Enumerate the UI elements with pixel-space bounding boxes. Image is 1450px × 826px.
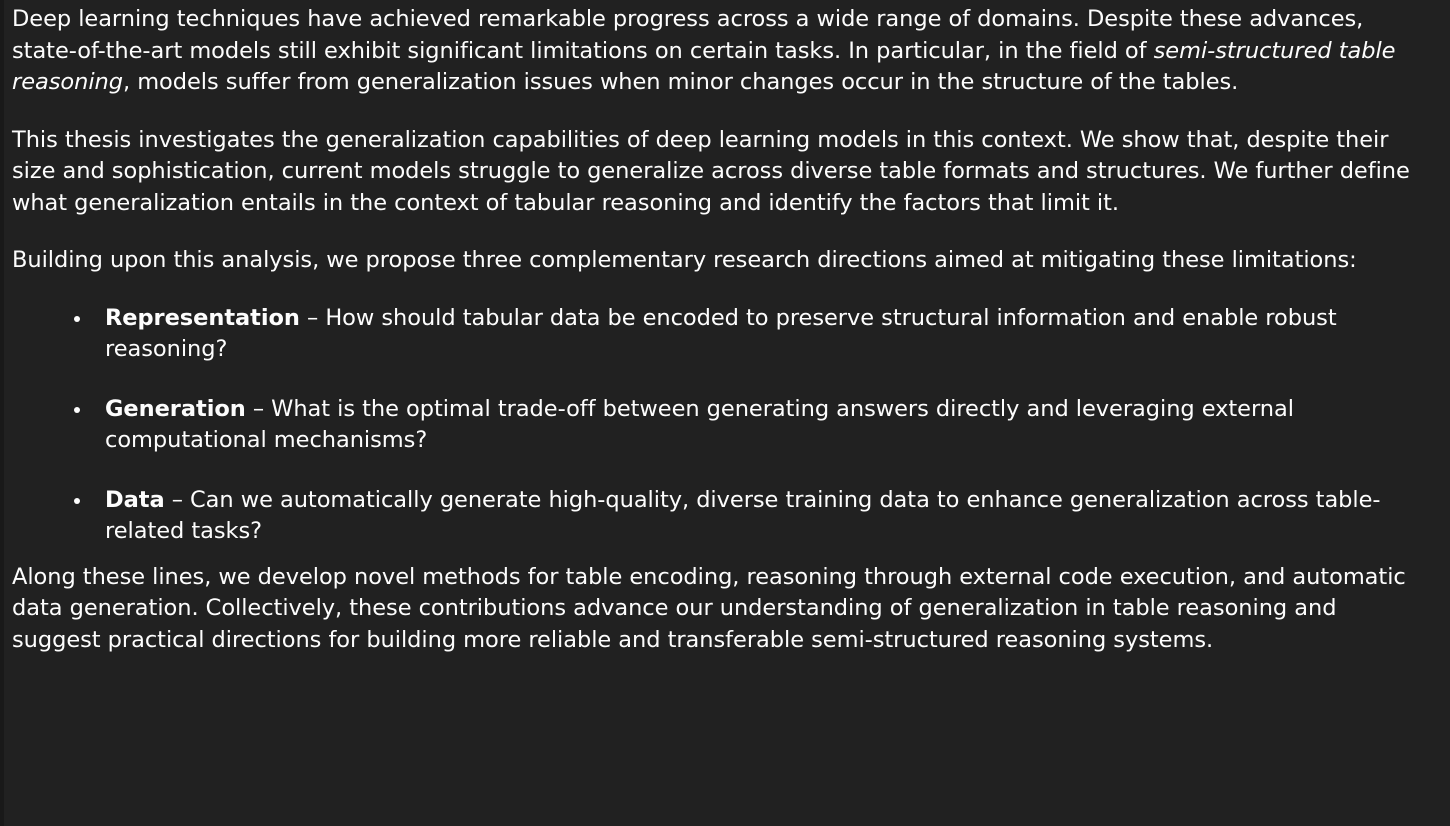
list-item-generation-text: What is the optimal trade-off between ge… (105, 396, 1294, 454)
bullet-dot-icon (74, 316, 80, 322)
list-item-data: Data – Can we automatically generate hig… (12, 485, 1428, 548)
paragraph-thesis-scope: This thesis investigates the generalizat… (12, 125, 1428, 220)
bullet-dot-icon (74, 407, 80, 413)
list-item-generation: Generation – What is the optimal trade-o… (12, 394, 1428, 457)
list-item-representation: Representation – How should tabular data… (12, 303, 1428, 366)
paragraph-intro-part-2: , models suffer from generalization issu… (123, 69, 1238, 95)
list-item-data-text: Can we automatically generate high-quali… (105, 487, 1380, 545)
abstract-page: Deep learning techniques have achieved r… (0, 0, 1450, 826)
research-directions-list: Representation – How should tabular data… (12, 303, 1428, 548)
list-item-representation-lead: Representation (105, 305, 300, 331)
list-item-data-separator: – (165, 487, 190, 513)
list-item-representation-separator: – (300, 305, 325, 331)
bullet-dot-icon (74, 498, 80, 504)
paragraph-research-directions-lead: Building upon this analysis, we propose … (12, 245, 1428, 277)
list-item-data-lead: Data (105, 487, 165, 513)
paragraph-contributions-text: Along these lines, we develop novel meth… (12, 564, 1406, 653)
paragraph-research-directions-lead-text: Building upon this analysis, we propose … (12, 247, 1357, 273)
list-item-generation-lead: Generation (105, 396, 246, 422)
list-item-generation-separator: – (246, 396, 271, 422)
paragraph-contributions: Along these lines, we develop novel meth… (12, 562, 1428, 657)
paragraph-thesis-scope-text: This thesis investigates the generalizat… (12, 127, 1410, 216)
paragraph-intro: Deep learning techniques have achieved r… (12, 4, 1428, 99)
